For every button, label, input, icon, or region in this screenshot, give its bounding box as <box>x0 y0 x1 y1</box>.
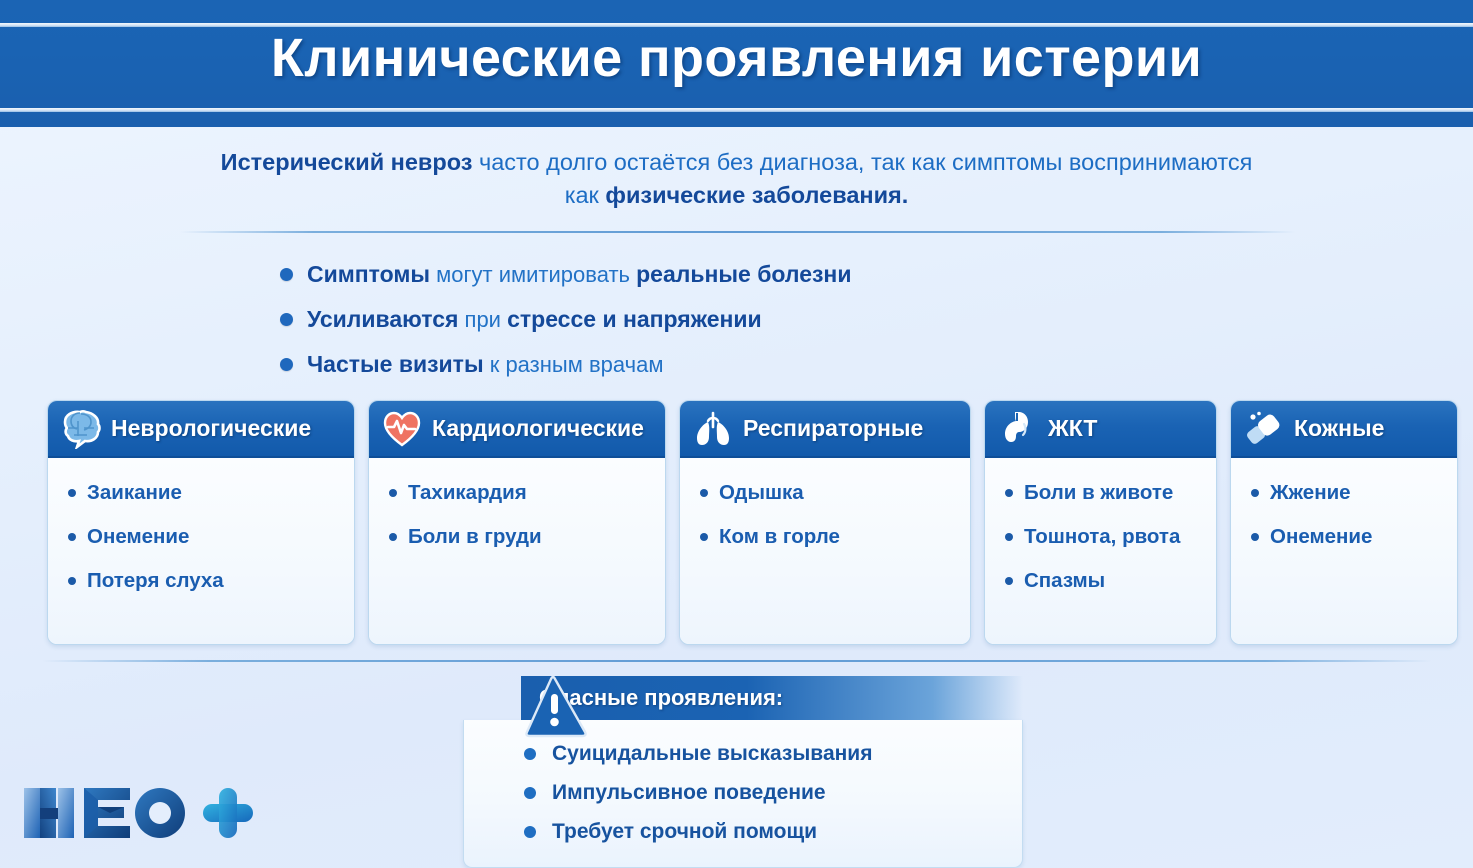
card-item-label: Боли в животе <box>1024 480 1173 505</box>
card-title: Неврологические <box>111 415 311 442</box>
bullet-dot-icon <box>68 533 76 541</box>
neo-plus-logo <box>18 782 258 844</box>
bullet-dot-icon <box>700 489 708 497</box>
bullet-dot-icon <box>524 826 536 838</box>
card-title: Респираторные <box>743 415 923 442</box>
card-header: Респираторные <box>680 401 970 458</box>
card-item-label: Онемение <box>87 524 189 549</box>
bullet-dot-icon <box>524 748 536 760</box>
list-item: Онемение <box>1251 524 1443 549</box>
bullet-dot-icon <box>389 533 397 541</box>
bullet-dot-icon <box>524 787 536 799</box>
bullet-dot-icon <box>280 313 293 326</box>
card-title: ЖКТ <box>1048 415 1097 442</box>
bullet-dot-icon <box>1005 577 1013 585</box>
symptom-card-row: Неврологические Заикание Онемение Потеря… <box>47 400 1458 645</box>
warning-triangle-icon <box>521 674 593 740</box>
card-header: Кардиологические <box>369 401 665 458</box>
header-banner: Клинические проявления истерии <box>0 0 1473 127</box>
card-item-label: Жжение <box>1270 480 1351 505</box>
card-item-label: Боли в груди <box>408 524 542 549</box>
list-item: Боли в животе <box>1005 480 1202 505</box>
card-item-label: Спазмы <box>1024 568 1105 593</box>
card-body: Жжение Онемение <box>1231 458 1457 644</box>
main-bullet-text: Усиливаются при стрессе и напряжении <box>307 306 762 333</box>
danger-header: Опасные проявления: <box>521 676 1023 720</box>
card-title: Кардиологические <box>432 415 644 442</box>
bullet-dot-icon <box>1251 489 1259 497</box>
list-item: Требует срочной помощи <box>464 812 1022 851</box>
banner-rule-bottom <box>0 108 1473 112</box>
card-gastrointestinal: ЖКТ Боли в животе Тошнота, рвота Спазмы <box>984 400 1217 645</box>
lungs-icon <box>692 409 734 449</box>
divider-bottom <box>42 660 1432 662</box>
card-item-label: Онемение <box>1270 524 1372 549</box>
skin-patch-icon <box>1243 409 1285 449</box>
heart-pulse-icon <box>381 409 423 449</box>
list-item: Усиливаются при стрессе и напряжении <box>280 297 851 342</box>
card-neurological: Неврологические Заикание Онемение Потеря… <box>47 400 355 645</box>
danger-callout: Опасные проявления: Суицидальные высказы… <box>463 676 1023 868</box>
subtitle: Истерический невроз часто долго остаётся… <box>180 146 1293 212</box>
danger-item-label: Суицидальные высказывания <box>552 742 872 766</box>
bullet-dot-icon <box>68 577 76 585</box>
card-skin: Кожные Жжение Онемение <box>1230 400 1458 645</box>
list-item: Тахикардия <box>389 480 651 505</box>
bullet-dot-icon <box>700 533 708 541</box>
bullet-dot-icon <box>1251 533 1259 541</box>
card-item-label: Тошнота, рвота <box>1024 524 1180 549</box>
brain-icon <box>60 409 102 449</box>
bullet-dot-icon <box>389 489 397 497</box>
main-bullet-list: Симптомы могут имитировать реальные боле… <box>280 252 851 387</box>
card-title: Кожные <box>1294 415 1384 442</box>
list-item: Симптомы могут имитировать реальные боле… <box>280 252 851 297</box>
stomach-icon <box>997 409 1039 449</box>
list-item: Жжение <box>1251 480 1443 505</box>
bullet-dot-icon <box>280 358 293 371</box>
card-body: Тахикардия Боли в груди <box>369 458 665 644</box>
list-item: Онемение <box>68 524 340 549</box>
bullet-dot-icon <box>280 268 293 281</box>
list-item: Спазмы <box>1005 568 1202 593</box>
card-respiratory: Респираторные Одышка Ком в горле <box>679 400 971 645</box>
subtitle-bold-2: физические заболевания. <box>605 182 908 208</box>
card-item-label: Ком в горле <box>719 524 840 549</box>
divider-top <box>180 231 1295 233</box>
subtitle-plain-2: как <box>565 182 606 208</box>
card-item-label: Заикание <box>87 480 182 505</box>
bullet-dot-icon <box>1005 533 1013 541</box>
page-title: Клинические проявления истерии <box>0 27 1473 89</box>
list-item: Частые визиты к разным врачам <box>280 342 851 387</box>
card-header: ЖКТ <box>985 401 1216 458</box>
list-item: Ком в горле <box>700 524 956 549</box>
card-cardiological: Кардиологические Тахикардия Боли в груди <box>368 400 666 645</box>
bullet-dot-icon <box>1005 489 1013 497</box>
card-body: Боли в животе Тошнота, рвота Спазмы <box>985 458 1216 644</box>
card-item-label: Потеря слуха <box>87 568 224 593</box>
card-body: Одышка Ком в горле <box>680 458 970 644</box>
card-item-label: Тахикардия <box>408 480 527 505</box>
list-item: Одышка <box>700 480 956 505</box>
main-bullet-text: Симптомы могут имитировать реальные боле… <box>307 261 851 288</box>
infographic-page: Клинические проявления истерии Истеричес… <box>0 0 1473 868</box>
list-item: Заикание <box>68 480 340 505</box>
list-item: Импульсивное поведение <box>464 773 1022 812</box>
bullet-dot-icon <box>68 489 76 497</box>
card-item-label: Одышка <box>719 480 804 505</box>
subtitle-plain-1: часто долго остаётся без диагноза, так к… <box>472 149 1252 175</box>
danger-list: Суицидальные высказывания Импульсивное п… <box>463 720 1023 868</box>
subtitle-bold-1: Истерический невроз <box>221 149 473 175</box>
list-item: Боли в груди <box>389 524 651 549</box>
card-body: Заикание Онемение Потеря слуха <box>48 458 354 644</box>
list-item: Тошнота, рвота <box>1005 524 1202 549</box>
danger-item-label: Требует срочной помощи <box>552 820 817 844</box>
list-item: Потеря слуха <box>68 568 340 593</box>
card-header: Неврологические <box>48 401 354 458</box>
main-bullet-text: Частые визиты к разным врачам <box>307 351 663 378</box>
danger-item-label: Импульсивное поведение <box>552 781 826 805</box>
card-header: Кожные <box>1231 401 1457 458</box>
